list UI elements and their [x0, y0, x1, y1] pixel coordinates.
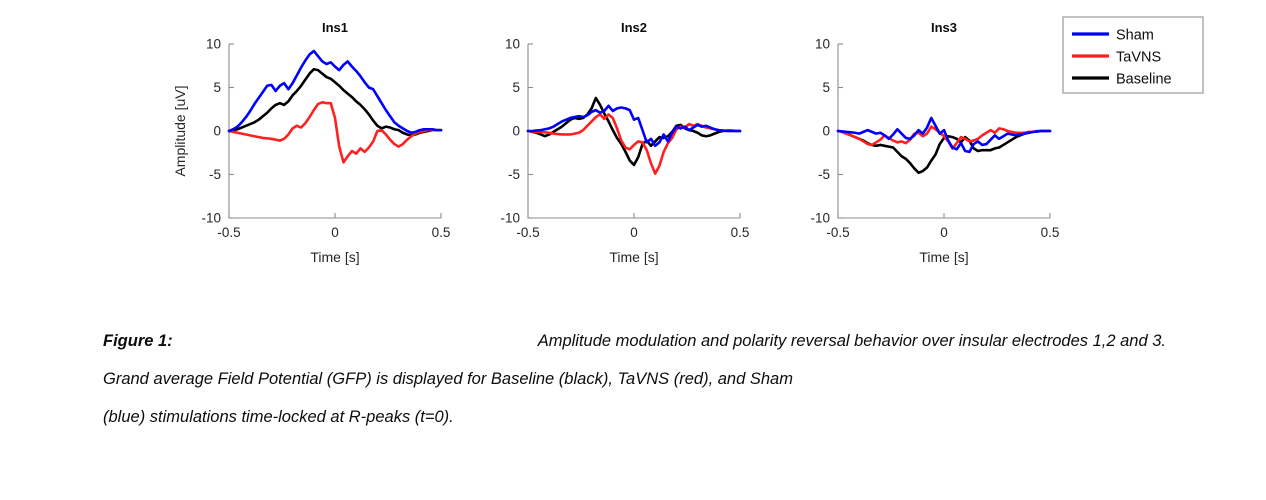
x-tick-label: 0	[940, 225, 948, 240]
panel-ins2: -10-50510-0.500.5Ins2Time [s]	[500, 20, 749, 265]
caption-line-3: (blue) stimulations time-locked at R-pea…	[103, 398, 1166, 436]
caption-line-1-text: Amplitude modulation and polarity revers…	[538, 322, 1166, 360]
panel-title: Ins1	[322, 20, 348, 35]
legend-label-sham: Sham	[1116, 28, 1154, 44]
panel-title: Ins2	[621, 20, 647, 35]
x-tick-label: -0.5	[826, 225, 849, 240]
x-axis-label: Time [s]	[310, 249, 359, 265]
x-tick-label: -0.5	[217, 225, 240, 240]
figure-container: -10-50510-0.500.5Ins1Time [s]Amplitude […	[0, 0, 1266, 500]
axis-spines	[528, 44, 740, 218]
chart-legend: ShamTaVNSBaseline	[1063, 17, 1203, 93]
y-tick-label: -10	[201, 211, 221, 226]
series-line-sham	[528, 106, 740, 146]
panel-ins1: -10-50510-0.500.5Ins1Time [s]Amplitude […	[172, 20, 450, 265]
y-tick-label: 5	[512, 80, 520, 95]
y-tick-label: -5	[209, 167, 221, 182]
x-tick-label: -0.5	[516, 225, 539, 240]
y-tick-label: -5	[818, 167, 830, 182]
y-tick-label: 10	[505, 37, 520, 52]
caption-lead: Figure 1:	[103, 322, 173, 360]
y-tick-label: -10	[810, 211, 830, 226]
series-line-baseline	[528, 98, 740, 165]
y-tick-label: -10	[500, 211, 520, 226]
y-tick-label: 5	[213, 80, 221, 95]
caption-line-2: Grand average Field Potential (GFP) is d…	[103, 360, 1166, 398]
y-tick-label: 0	[822, 124, 830, 139]
x-axis-label: Time [s]	[609, 249, 658, 265]
panel-ins3: -10-50510-0.500.5Ins3Time [s]	[810, 20, 1059, 265]
y-tick-label: 0	[213, 124, 221, 139]
gfp-multipanel-chart: -10-50510-0.500.5Ins1Time [s]Amplitude […	[0, 0, 1266, 300]
x-tick-label: 0	[630, 225, 638, 240]
figure-caption: Figure 1: Amplitude modulation and polar…	[103, 322, 1166, 436]
y-tick-label: 5	[822, 80, 830, 95]
x-tick-label: 0.5	[432, 225, 451, 240]
panel-title: Ins3	[931, 20, 957, 35]
y-tick-label: -5	[508, 167, 520, 182]
y-axis-label: Amplitude [uV]	[172, 85, 188, 176]
legend-label-baseline: Baseline	[1116, 72, 1172, 88]
x-axis-label: Time [s]	[919, 249, 968, 265]
x-tick-label: 0.5	[1041, 225, 1060, 240]
caption-line-1: Figure 1: Amplitude modulation and polar…	[103, 322, 1166, 360]
y-tick-label: 10	[815, 37, 830, 52]
y-tick-label: 10	[206, 37, 221, 52]
y-tick-label: 0	[512, 124, 520, 139]
x-tick-label: 0	[331, 225, 339, 240]
legend-label-tavns: TaVNS	[1116, 50, 1161, 66]
x-tick-label: 0.5	[731, 225, 750, 240]
